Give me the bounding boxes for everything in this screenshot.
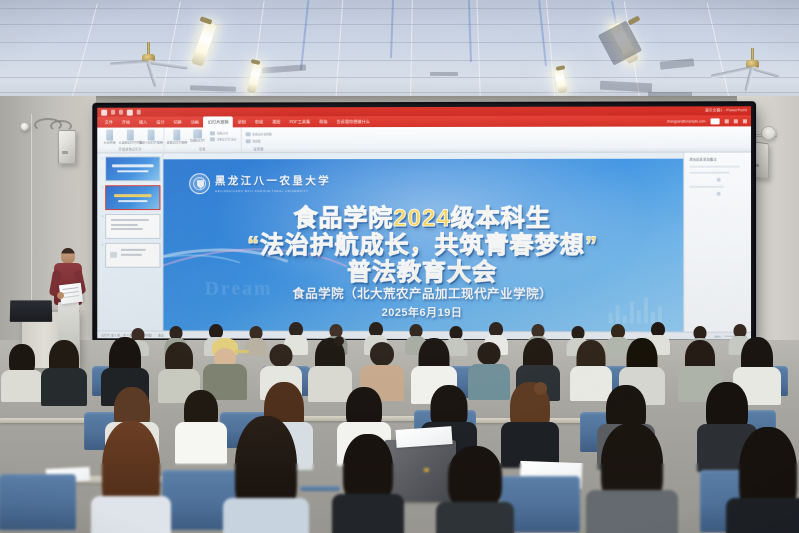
lecture-hall-photo: 演示文稿1 - PowerPoint 文件 开始 插入 设计 切换 动画 幻灯片… <box>0 0 799 533</box>
pane-handle-icon[interactable] <box>716 192 720 196</box>
ribbon-command-area[interactable]: 从头开始 从当前幻灯片开始 自定义幻灯片放映 开始放映幻灯片 <box>97 126 751 153</box>
button-from-current-slide[interactable]: 从当前幻灯片开始 <box>122 130 139 145</box>
checkbox-presenter-view[interactable]: 使用演示者视图 <box>245 131 271 136</box>
ceiling-fan <box>708 48 796 78</box>
record-icon <box>210 137 215 141</box>
play-from-current-icon <box>127 130 134 141</box>
slide-title-line-2: “法治护航成长，共筑青春梦想” <box>163 231 683 258</box>
tab-insert[interactable]: 插入 <box>135 117 152 128</box>
maximize-icon[interactable] <box>734 119 738 123</box>
slide-thumbnail-2[interactable] <box>105 185 160 210</box>
tab-pdf-tools[interactable]: PDF工具集 <box>285 116 315 127</box>
button-hide-slide[interactable]: 隐藏幻灯片 <box>189 129 206 142</box>
button-rehearse-timings[interactable]: 排练计时 <box>210 130 236 135</box>
button-setup-slideshow[interactable]: 设置幻灯片放映 <box>168 129 185 144</box>
lecture-chair <box>0 474 76 530</box>
wall-speaker-left <box>58 130 76 164</box>
audience-person <box>592 428 672 533</box>
tab-slide-show[interactable]: 幻灯片放映 <box>203 116 233 127</box>
list-item[interactable]: 4 <box>99 243 160 268</box>
hide-slide-icon <box>193 129 202 138</box>
tab-home[interactable]: 开始 <box>117 117 134 128</box>
university-name-en: HEILONGJIANG BAYI AGRICULTURAL UNIVERSIT… <box>215 189 331 193</box>
audience-person <box>732 432 799 533</box>
bag-logo-patch <box>424 468 429 472</box>
university-logo: 黑龙江八一农垦大学 HEILONGJIANG BAYI AGRICULTURAL… <box>189 173 331 194</box>
tab-transitions[interactable]: 切换 <box>169 117 186 128</box>
tab-view[interactable]: 视图 <box>268 116 285 127</box>
ceiling-fan <box>106 42 190 72</box>
button-record-slideshow[interactable]: 录制幻灯片演示 <box>210 137 236 142</box>
ceiling <box>0 0 799 104</box>
group-label-start-slideshow: 开始放映幻灯片 <box>101 146 159 151</box>
setup-show-icon <box>173 129 180 140</box>
slide-title-line-1: 食品学院2024级本科生 <box>163 204 683 231</box>
presenter-head <box>61 248 75 264</box>
slide-thumbnail-3[interactable] <box>105 214 160 239</box>
slide-thumbnail-4[interactable] <box>105 243 160 268</box>
audience-person <box>44 342 84 404</box>
monitor-icon <box>245 139 250 143</box>
pane-handle-icon[interactable] <box>716 178 720 182</box>
present-icon[interactable] <box>127 109 133 115</box>
tab-tell-me[interactable]: 告诉我你想做什么 <box>332 116 374 127</box>
tab-animations[interactable]: 动画 <box>186 116 203 127</box>
audience-person <box>470 342 508 400</box>
list-item[interactable]: 2 <box>99 185 160 210</box>
hair-bun <box>334 336 344 346</box>
button-custom-slideshow[interactable]: 自定义幻灯片放映 <box>143 129 160 144</box>
audience-person <box>504 386 556 466</box>
tab-file[interactable]: 文件 <box>100 117 117 128</box>
ribbon-group-start-slideshow: 从头开始 从当前幻灯片开始 自定义幻灯片放映 开始放映幻灯片 <box>97 127 164 152</box>
slide-subtitle: 食品学院（北大荒农产品加工现代产业学院） <box>163 282 683 302</box>
close-icon[interactable] <box>743 119 747 123</box>
list-item[interactable]: 3 <box>99 214 160 239</box>
seated-students <box>0 300 799 533</box>
redo-icon[interactable] <box>119 110 123 115</box>
save-icon[interactable] <box>101 109 107 115</box>
audience-person <box>4 346 40 400</box>
slide-title-block: 食品学院2024级本科生 “法治护航成长，共筑青春梦想” 普法教育大会 <box>163 204 683 285</box>
account-label[interactable]: zhangsan@example.com <box>667 119 706 123</box>
dropdown-monitor[interactable]: 监视器 <box>245 138 271 143</box>
custom-show-icon <box>148 130 155 141</box>
minimize-icon[interactable] <box>725 119 729 123</box>
ribbon-group-setup: 设置幻灯片放映 隐藏幻灯片 排练计时 <box>164 127 241 152</box>
group-label-setup: 设置 <box>168 146 236 151</box>
audience-person <box>96 426 166 533</box>
cap-brim <box>235 350 249 353</box>
audience-person <box>178 392 224 462</box>
presenter-view-icon <box>245 132 250 136</box>
tab-review[interactable]: 审阅 <box>250 116 267 127</box>
audience-person <box>205 340 245 400</box>
audience-person <box>440 450 510 533</box>
window-title: 演示文稿1 - PowerPoint <box>705 108 747 113</box>
dome-sensor <box>761 126 776 140</box>
group-label-monitors: 监视器 <box>245 146 271 151</box>
chair-armrest <box>300 486 340 491</box>
presenter-hand <box>57 292 64 299</box>
slide-thumbnail-1[interactable] <box>105 156 160 181</box>
tab-design[interactable]: 设计 <box>152 117 169 128</box>
share-button[interactable] <box>711 118 720 124</box>
university-seal-icon <box>189 173 210 194</box>
dome-sensor <box>20 122 29 131</box>
list-item[interactable]: 1 <box>99 156 160 181</box>
rehearse-timings-icon <box>210 131 215 135</box>
audience-person <box>228 422 304 533</box>
notes-pane-title: 单击此处添加备注 <box>689 157 747 162</box>
tab-record[interactable]: 录制 <box>233 116 250 127</box>
ribbon-group-monitors: 使用演示者视图 监视器 监视器 <box>241 127 275 152</box>
hair-bun <box>534 382 547 395</box>
button-from-beginning[interactable]: 从头开始 <box>101 130 118 145</box>
undo-icon[interactable] <box>111 110 115 115</box>
audience-person <box>336 438 400 533</box>
search-icon[interactable] <box>137 110 141 115</box>
university-name-cn: 黑龙江八一农垦大学 <box>215 173 331 188</box>
play-from-start-icon <box>106 130 113 141</box>
tab-help[interactable]: 帮助 <box>315 116 332 127</box>
